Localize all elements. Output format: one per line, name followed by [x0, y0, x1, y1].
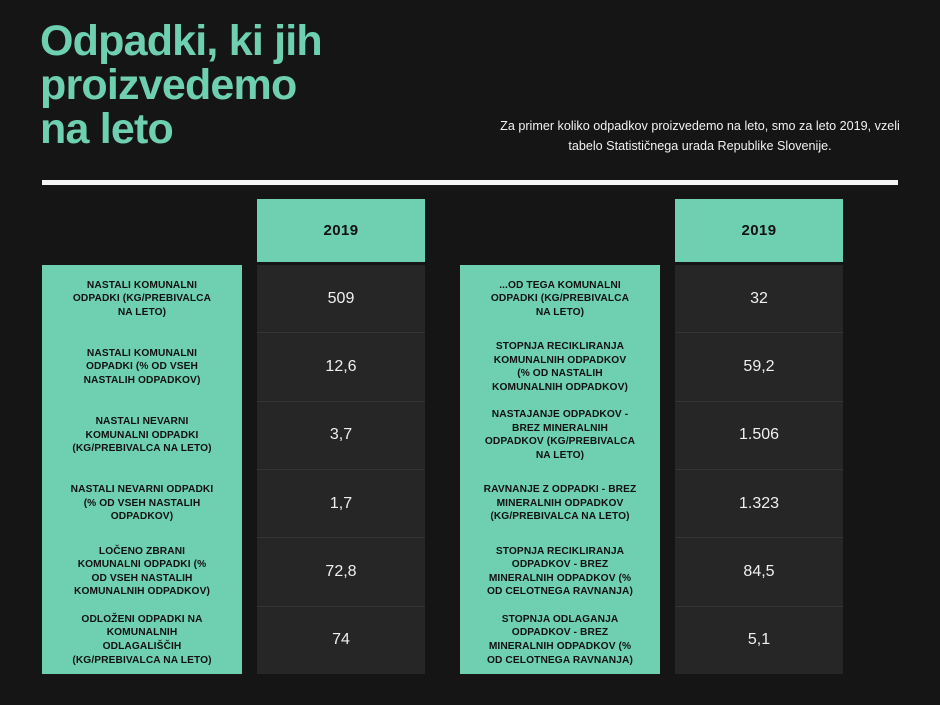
table-row-value: 1.323: [675, 469, 843, 537]
table-row-label: NASTALI NEVARNI KOMUNALNI ODPADKI (KG/PR…: [42, 401, 242, 469]
right-table-values: 32 59,2 1.506 1.323 84,5 5,1: [675, 265, 843, 674]
infographic-page: Odpadki, ki jih proizvedemo na leto Za p…: [0, 0, 940, 705]
table-row-label: NASTALI NEVARNI ODPADKI (% OD VSEH NASTA…: [42, 470, 242, 538]
table-row-label: ...OD TEGA KOMUNALNI ODPADKI (KG/PREBIVA…: [460, 265, 660, 333]
left-table-label-column: NASTALI KOMUNALNI ODPADKI (KG/PREBIVALCA…: [42, 265, 242, 674]
left-table-values: 509 12,6 3,7 1,7 72,8 74: [257, 265, 425, 674]
table-row-value: 32: [675, 265, 843, 332]
table-row-label: NASTALI KOMUNALNI ODPADKI (KG/PREBIVALCA…: [42, 265, 242, 333]
table-row-value: 59,2: [675, 332, 843, 400]
table-row-value: 509: [257, 265, 425, 332]
page-subtitle: Za primer koliko odpadkov proizvedemo na…: [500, 116, 900, 157]
table-row-label: STOPNJA ODLAGANJA ODPADKOV - BREZ MINERA…: [460, 606, 660, 674]
table-row-value: 3,7: [257, 401, 425, 469]
table-row-label: NASTAJANJE ODPADKOV - BREZ MINERALNIH OD…: [460, 401, 660, 469]
table-row-label: NASTALI KOMUNALNI ODPADKI (% OD VSEH NAS…: [42, 333, 242, 401]
right-table-value-column: 2019 32 59,2 1.506 1.323 84,5 5,1: [675, 199, 843, 674]
right-table-year-header: 2019: [675, 199, 843, 262]
left-table-year-header: 2019: [257, 199, 425, 262]
table-row-label: LOČENO ZBRANI KOMUNALNI ODPADKI (% OD VS…: [42, 538, 242, 606]
page-title: Odpadki, ki jih proizvedemo na leto: [40, 20, 470, 152]
table-row-value: 1,7: [257, 469, 425, 537]
table-row-label: STOPNJA RECIKLIRANJA ODPADKOV - BREZ MIN…: [460, 538, 660, 606]
right-table-label-column: ...OD TEGA KOMUNALNI ODPADKI (KG/PREBIVA…: [460, 265, 660, 674]
table-row-label: STOPNJA RECIKLIRANJA KOMUNALNIH ODPADKOV…: [460, 333, 660, 401]
table-row-label: ODLOŽENI ODPADKI NA KOMUNALNIH ODLAGALIŠ…: [42, 606, 242, 674]
table-row-value: 72,8: [257, 537, 425, 605]
header-divider: [42, 180, 898, 185]
table-row-value: 84,5: [675, 537, 843, 605]
left-table-value-column: 2019 509 12,6 3,7 1,7 72,8 74: [257, 199, 425, 674]
table-row-label: RAVNANJE Z ODPADKI - BREZ MINERALNIH ODP…: [460, 470, 660, 538]
table-row-value: 74: [257, 606, 425, 674]
table-row-value: 5,1: [675, 606, 843, 674]
table-row-value: 1.506: [675, 401, 843, 469]
table-row-value: 12,6: [257, 332, 425, 400]
